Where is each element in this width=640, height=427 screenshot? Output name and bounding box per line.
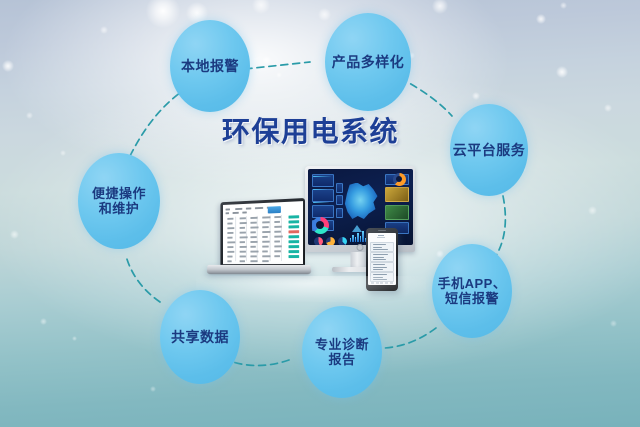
phone-screen-app bbox=[368, 233, 396, 286]
bubble-diagnostic-report[interactable]: 专业诊断 报告 bbox=[302, 306, 382, 398]
poster-canvas: 环保用电系统 本地报警 产品多样化 云平台服务 手机APP、 短信报警 专业诊断… bbox=[0, 0, 640, 427]
desktop-monitor bbox=[305, 166, 415, 252]
bubble-local-alarm[interactable]: 本地报警 bbox=[170, 20, 250, 112]
laptop-toolbar bbox=[225, 204, 299, 216]
laptop bbox=[207, 198, 311, 276]
laptop-screen-table bbox=[223, 201, 303, 264]
bubble-local-alarm-line-0: 本地报警 bbox=[181, 58, 239, 75]
bubble-product-diversity-line-0: 产品多样化 bbox=[332, 54, 405, 71]
phone-list-item bbox=[370, 242, 394, 252]
laptop-lid bbox=[220, 198, 305, 266]
bubble-shared-data-line-0: 共享数据 bbox=[171, 329, 229, 346]
monitor-brand-logo bbox=[357, 244, 364, 251]
laptop-base bbox=[206, 265, 311, 274]
bubble-cloud-platform[interactable]: 云平台服务 bbox=[450, 104, 528, 196]
phone-body bbox=[366, 228, 398, 291]
bubble-mobile-app-sms-alarm-line-1: 短信报警 bbox=[438, 291, 507, 306]
bubble-easy-operation[interactable]: 便捷操作 和维护 bbox=[78, 153, 160, 249]
bubble-shared-data[interactable]: 共享数据 bbox=[160, 290, 240, 384]
monitor-bezel bbox=[305, 166, 415, 252]
bubble-mobile-app-sms-alarm[interactable]: 手机APP、 短信报警 bbox=[432, 244, 512, 338]
bubble-diagnostic-report-line-0: 专业诊断 bbox=[315, 337, 369, 352]
phone-speaker bbox=[378, 230, 386, 231]
bubble-easy-operation-line-1: 和维护 bbox=[92, 201, 146, 216]
bubble-diagnostic-report-line-1: 报告 bbox=[315, 352, 369, 367]
laptop-chart-badge bbox=[267, 206, 280, 213]
page-title: 环保用电系统 bbox=[222, 110, 399, 150]
bubble-mobile-app-sms-alarm-line-0: 手机APP、 bbox=[438, 276, 507, 291]
phone-list-item bbox=[370, 252, 394, 262]
bubble-easy-operation-line-0: 便捷操作 bbox=[92, 186, 146, 201]
china-map-graphic bbox=[344, 183, 378, 221]
phone-list-item bbox=[370, 262, 394, 272]
smartphone bbox=[366, 228, 398, 291]
bubble-product-diversity[interactable]: 产品多样化 bbox=[325, 13, 411, 111]
bubble-cloud-platform-line-0: 云平台服务 bbox=[453, 142, 526, 159]
phone-bottom-nav bbox=[370, 280, 394, 285]
phone-app-header bbox=[370, 234, 394, 240]
